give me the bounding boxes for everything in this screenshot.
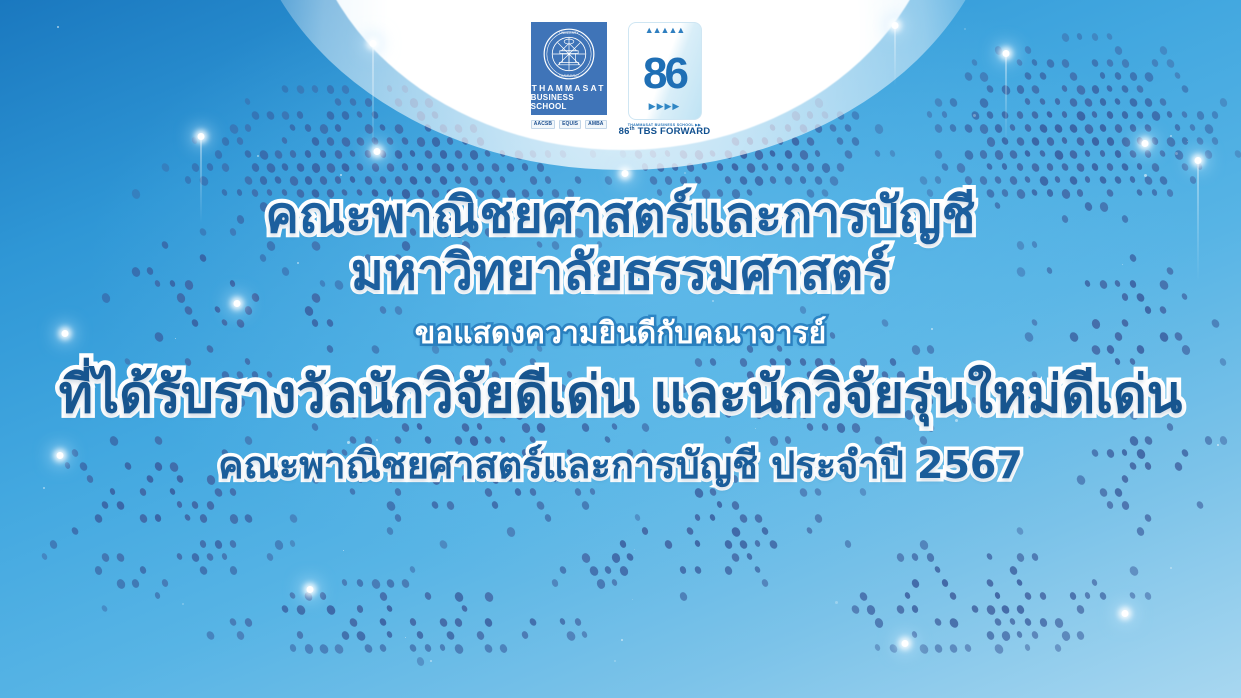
svg-text:THAMMASAT: THAMMASAT (559, 74, 579, 78)
accreditation-badge-equis: EQUIS (559, 120, 581, 129)
tbs-name-line2: BUSINESS SCHOOL (531, 93, 607, 111)
thammasat-seal-icon: UNIVERSITY THAMMASAT (542, 27, 596, 81)
forward-arrows-icon: ▶▶▶▶ (629, 101, 701, 112)
anniversary-tagline-prefix: 86 (619, 126, 630, 137)
thammasat-business-school-logo: UNIVERSITY THAMMASAT THAMMASAT BUSINESS … (531, 22, 607, 130)
anniversary-number: 86 (643, 52, 686, 96)
crown-ornament-icon: ▲▲▲▲▲ (629, 26, 701, 35)
logo-cluster: UNIVERSITY THAMMASAT THAMMASAT BUSINESS … (0, 22, 1241, 137)
tbs-name-line1: THAMMASAT (532, 84, 606, 93)
award-line: ที่ได้รับรางวัลนักวิจัยดีเด่น และนักวิจั… (0, 365, 1241, 426)
anniversary-tagline: 86th TBS FORWARD (619, 127, 711, 137)
seal-card: UNIVERSITY THAMMASAT THAMMASAT BUSINESS … (531, 22, 607, 115)
accreditation-badge-aacsb: AACSB (531, 120, 555, 129)
poster-text-block: คณะพาณิชยศาสตร์และการบัญชี มหาวิทยาลัยธร… (0, 186, 1241, 488)
accreditation-badge-amba: AMBA (585, 120, 606, 129)
anniversary-card: ▲▲▲▲▲ 86 ▶▶▶▶ (628, 22, 702, 120)
announcement-poster: UNIVERSITY THAMMASAT THAMMASAT BUSINESS … (0, 0, 1241, 698)
headline-line-2: มหาวิทยาลัยธรรมศาสตร์ (0, 243, 1241, 302)
anniversary-tagline-text: TBS FORWARD (635, 126, 711, 137)
svg-text:UNIVERSITY: UNIVERSITY (559, 31, 579, 35)
headline-line-1: คณะพาณิชยศาสตร์และการบัญชี (0, 186, 1241, 245)
accreditation-badges: AACSB EQUIS AMBA (531, 119, 607, 130)
footer-line: คณะพาณิชยศาสตร์และการบัญชี ประจำปี 2567 (0, 443, 1241, 488)
congratulations-subheading: ขอแสดงความยินดีกับคณาจารย์ (0, 316, 1241, 351)
anniversary-logo: ▲▲▲▲▲ 86 ▶▶▶▶ THAMMASAT BUSINESS SCHOOL … (619, 22, 711, 137)
